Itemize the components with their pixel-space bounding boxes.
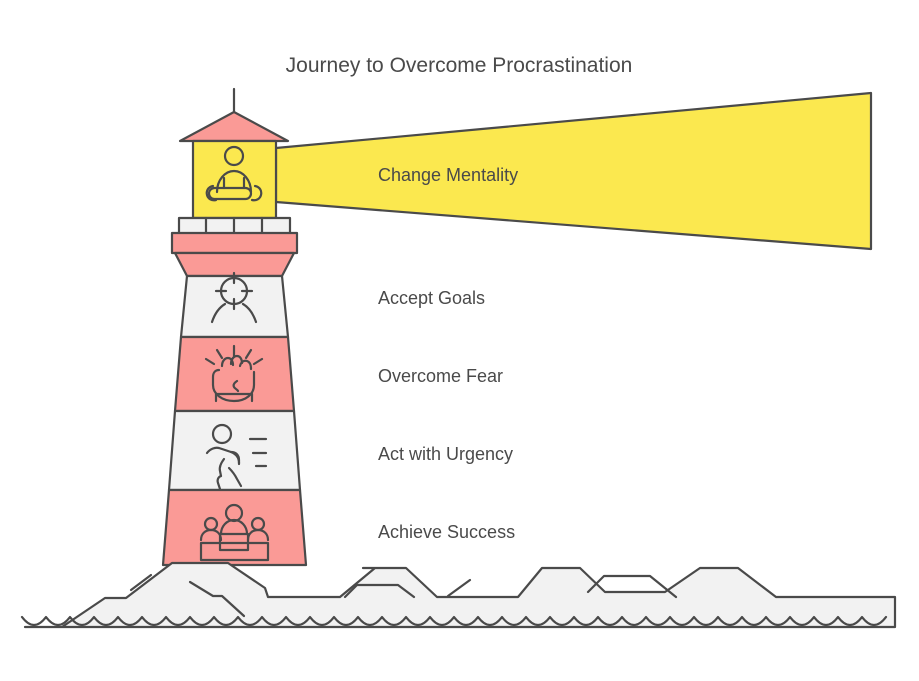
step-label-change-mentality: Change Mentality: [378, 165, 518, 185]
gallery-pink-band: [172, 233, 297, 253]
step-label-accept-goals: Accept Goals: [378, 288, 485, 308]
infographic-canvas: Journey to Overcome Procrastination: [0, 0, 919, 681]
light-beam: [276, 93, 871, 249]
step-label-overcome-fear: Overcome Fear: [378, 366, 503, 386]
band-achieve-success[interactable]: [163, 490, 306, 565]
step-label-act-with-urgency: Act with Urgency: [378, 444, 513, 464]
lighthouse-roof: [180, 112, 288, 141]
lighthouse-diagram: Journey to Overcome Procrastination: [0, 0, 919, 681]
lantern-room-band[interactable]: [193, 141, 276, 218]
band-act-with-urgency[interactable]: [169, 411, 300, 490]
page-title: Journey to Overcome Procrastination: [286, 54, 633, 77]
step-label-achieve-success: Achieve Success: [378, 522, 515, 542]
